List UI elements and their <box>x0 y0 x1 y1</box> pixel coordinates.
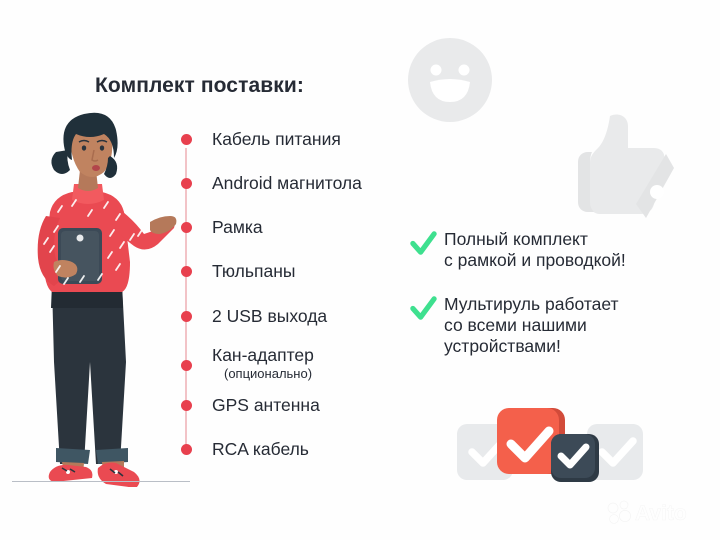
bullet-dot-icon <box>181 400 192 411</box>
benefit-line-3: устройствами! <box>444 336 619 357</box>
green-check-icon <box>410 295 437 322</box>
list-item-label: GPS антенна <box>212 395 320 415</box>
bullet-dot-icon <box>181 444 192 455</box>
list-item-label: 2 USB выхода <box>212 306 327 326</box>
list-item-label: Рамка <box>212 217 263 237</box>
benefit-line-1: Полный комплект <box>444 229 626 250</box>
page-title: Комплект поставки: <box>95 74 304 98</box>
list-item-label: Тюльпаны <box>212 261 295 281</box>
list-item: RCA кабель <box>181 438 309 460</box>
smiley-face-icon <box>400 30 500 130</box>
list-item: 2 USB выхода <box>181 305 327 327</box>
list-item: Android магнитола <box>181 172 362 194</box>
benefit-line-2: со всеми нашими <box>444 315 619 336</box>
promo-banner: Комплект поставки: Кабель питания Androi… <box>0 0 720 540</box>
benefit-line-1: Мультируль работает <box>444 294 619 315</box>
list-item: Рамка <box>181 216 263 238</box>
thumbs-up-icon <box>566 108 674 220</box>
benefit-item-complete-set: Полный комплект с рамкой и проводкой! <box>410 229 626 271</box>
list-item-sublabel: (опционально) <box>224 366 314 382</box>
bullet-dot-icon <box>181 222 192 233</box>
avito-wordmark: Avito <box>635 502 687 525</box>
ground-line <box>12 481 190 482</box>
list-item: GPS антенна <box>181 394 320 416</box>
avito-watermark: Avito <box>605 497 705 527</box>
bullet-dot-icon <box>181 178 192 189</box>
list-item-label: Кан-адаптер <box>212 345 314 365</box>
list-item: Кабель питания <box>181 128 341 150</box>
woman-pointing-illustration <box>10 112 185 487</box>
benefit-line-2: с рамкой и проводкой! <box>444 250 626 271</box>
list-item-label: Android магнитола <box>212 173 362 193</box>
checkbox-tiles-icon <box>455 402 645 486</box>
list-item: Тюльпаны <box>181 260 295 282</box>
list-item-label: Кабель питания <box>212 129 341 149</box>
bullet-dot-icon <box>181 311 192 322</box>
bullet-dot-icon <box>181 134 192 145</box>
list-item-label: RCA кабель <box>212 439 309 459</box>
bullet-dot-icon <box>181 266 192 277</box>
bullet-dot-icon <box>181 360 192 371</box>
list-item: Кан-адаптер (опционально) <box>181 344 314 382</box>
benefit-item-multiwheel: Мультируль работает со всеми нашими устр… <box>410 294 619 357</box>
green-check-icon <box>410 230 437 257</box>
